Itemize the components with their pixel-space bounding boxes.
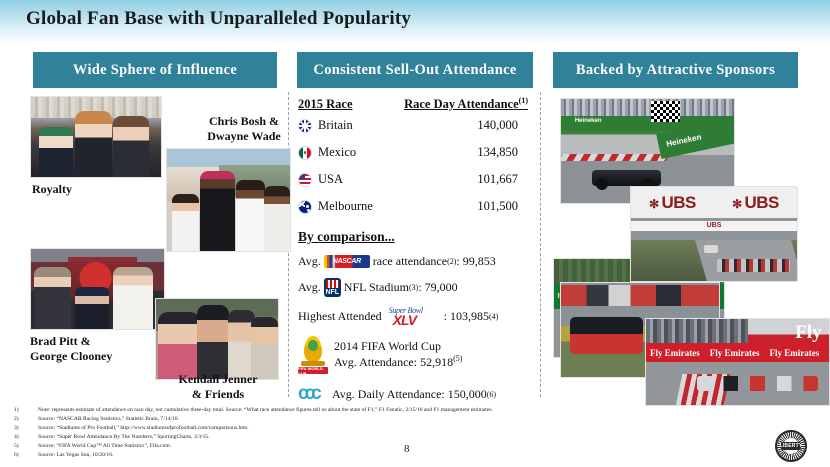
caption-bosh-line1: Chris Bosh & <box>196 114 292 129</box>
attendance-race-cell: USA <box>298 172 394 187</box>
comparison-nfl-prefix: Avg. <box>298 280 321 295</box>
footnote-text: Source: “Stadiums of Pro Football,” http… <box>38 424 714 433</box>
ubs-trackside-board: UBS UBS <box>631 187 797 218</box>
emirates-label: Fly Emirates <box>710 348 760 358</box>
caption-brad-pitt-george-clooney: Brad Pitt & George Clooney <box>30 334 150 364</box>
footnote-number: 3) <box>14 424 38 433</box>
photo-brad-pitt-george-clooney <box>30 248 165 330</box>
attendance-value: 140,000 <box>394 118 536 133</box>
footnotes: 1) Note: represents estimate of attendan… <box>14 406 714 460</box>
attendance-value: 101,667 <box>394 172 536 187</box>
ubs-label: UBS <box>732 193 779 213</box>
by-comparison-heading: By comparison... <box>298 229 536 245</box>
footnote-text: Source: “NASCAR Racing Statistics,” Stat… <box>38 415 714 424</box>
comparison-super-bowl-prefix: Highest Attended <box>298 309 382 324</box>
footnote-item: 1) Note: represents estimate of attendan… <box>14 406 714 415</box>
comparison-row-nfl: Avg. NFL Stadium(3): 79,000 <box>298 278 536 297</box>
comparison-super-bowl-footnote-ref: (4) <box>489 312 498 321</box>
attendance-col1-header: 2015 Race <box>298 97 394 112</box>
table-row: Melbourne 101,500 <box>298 193 536 220</box>
footnote-item: 5) Source: “FIFA World Cup™ All Time Sta… <box>14 442 714 451</box>
attendance-race-label: Mexico <box>318 145 356 160</box>
photo-sponsor-ubs: UBS UBS UBS <box>630 186 798 282</box>
comparison-row-fifa: 2014 FIFA World Cup Avg. Attendance: 52,… <box>298 334 536 374</box>
comparison-nascar-prefix: Avg. <box>298 254 321 269</box>
footnote-item: 4) Source: “Super Bowl Attendance By The… <box>14 433 714 442</box>
comparison-nascar-value: : 99,853 <box>456 254 495 269</box>
comparison-row-comic-con: Avg. Daily Attendance: 150,000(6) <box>298 384 536 404</box>
attendance-race-cell: Mexico <box>298 145 394 160</box>
comparison-super-bowl-value: : 103,985 <box>444 309 489 324</box>
footnote-number: 4) <box>14 433 38 442</box>
emirates-label: Fly Emirates <box>770 348 820 358</box>
nascar-logo-icon <box>324 255 370 268</box>
footnote-number: 1) <box>14 406 38 415</box>
attendance-table-header: 2015 Race Race Day Attendance(1) <box>298 96 536 112</box>
ubs-label: UBS <box>649 193 696 213</box>
attendance-race-cell: Melbourne <box>298 199 394 214</box>
attendance-value: 134,850 <box>394 145 536 160</box>
footnote-number: 2) <box>14 415 38 424</box>
liberty-logo-text: LIBERTY <box>780 443 803 449</box>
caption-brad-line2: George Clooney <box>30 349 150 364</box>
page-title: Global Fan Base with Unparalleled Popula… <box>26 8 411 30</box>
super-bowl-xlv-logo-icon: Super BowlXLV <box>385 306 441 326</box>
comparison-fifa-footnote-ref: (5) <box>453 354 462 363</box>
footnote-item: 2) Source: “NASCAR Racing Statistics,” S… <box>14 415 714 424</box>
comic-con-logo-icon <box>298 384 332 404</box>
ubs-sub-label: UBS <box>631 221 797 231</box>
footnote-text: Source: “Super Bowl Attendance By The Nu… <box>38 433 714 442</box>
column-header-sponsors: Backed by Attractive Sponsors <box>553 52 798 88</box>
attendance-panel: 2015 Race Race Day Attendance(1) Britain… <box>298 96 536 404</box>
slide-canvas: Global Fan Base with Unparalleled Popula… <box>0 0 830 467</box>
column-divider-right <box>540 92 541 397</box>
column-header-influence-label: Wide Sphere of Influence <box>73 62 237 79</box>
comparison-nfl-footnote-ref: (3) <box>409 283 418 292</box>
photo-sponsor-fly-emirates: Fly Fly Emirates Fly Emirates Fly Emirat… <box>645 318 830 406</box>
column-header-attendance-label: Consistent Sell-Out Attendance <box>313 62 516 79</box>
attendance-race-label: Melbourne <box>318 199 373 214</box>
caption-kendall-jenner-friends: Kendall Jenner & Friends <box>157 372 279 402</box>
comparison-nfl-text: NFL Stadium <box>344 280 409 295</box>
comparison-nascar-footnote-ref: (2) <box>447 257 456 266</box>
table-row: Britain 140,000 <box>298 112 536 139</box>
comparison-fifa-line2: Avg. Attendance: 52,918 <box>334 355 453 369</box>
table-row: Mexico 134,850 <box>298 139 536 166</box>
attendance-value: 101,500 <box>394 199 536 214</box>
column-header-sponsors-label: Backed by Attractive Sponsors <box>576 62 775 79</box>
footnote-number: 6) <box>14 451 38 460</box>
caption-brad-line1: Brad Pitt & <box>30 334 150 349</box>
photo-kendall-jenner-friends <box>155 298 279 380</box>
column-header-influence: Wide Sphere of Influence <box>33 52 277 88</box>
comparison-nfl-value: : 79,000 <box>418 280 457 295</box>
emirates-trackside-board: Fly Emirates Fly Emirates Fly Emirates <box>646 343 829 362</box>
footnote-text: Note: represents estimate of attendance … <box>38 406 714 415</box>
checkered-flag-icon <box>651 101 680 122</box>
emirates-label: Fly Emirates <box>650 348 700 358</box>
liberty-media-logo-icon: LIBERTY <box>775 430 807 462</box>
uk-flag-icon <box>298 119 312 133</box>
comparison-fifa-line1: 2014 FIFA World Cup <box>334 338 462 354</box>
mexico-flag-icon <box>298 146 312 160</box>
attendance-race-label: Britain <box>318 118 353 133</box>
australia-flag-icon <box>298 200 312 214</box>
photo-royalty <box>30 96 162 178</box>
footnote-number: 5) <box>14 442 38 451</box>
page-number: 8 <box>404 443 410 455</box>
usa-flag-icon <box>298 173 312 187</box>
footnote-item: 6) Source: Las Vegas Sun, 10/20/16. <box>14 451 714 460</box>
fifa-world-cup-logo-icon <box>298 334 328 374</box>
comparison-row-nascar: Avg. race attendance(2): 99,853 <box>298 254 536 269</box>
column-header-attendance: Consistent Sell-Out Attendance <box>297 52 533 88</box>
footnote-text: Source: Las Vegas Sun, 10/20/16. <box>38 451 714 460</box>
comparison-comic-con-text: Avg. Daily Attendance: 150,000 <box>332 387 487 402</box>
comparison-comic-con-footnote-ref: (6) <box>487 390 496 399</box>
attendance-col2-header-label: Race Day Attendance <box>404 97 519 111</box>
caption-chris-bosh-dwayne-wade: Chris Bosh & Dwayne Wade <box>196 114 292 144</box>
comparison-nascar-text: race attendance <box>373 254 447 269</box>
footnote-text: Source: “FIFA World Cup™ All Time Statis… <box>38 442 714 451</box>
caption-bosh-line2: Dwayne Wade <box>196 129 292 144</box>
caption-kendall-line2: & Friends <box>157 387 279 402</box>
attendance-race-label: USA <box>318 172 343 187</box>
caption-kendall-line1: Kendall Jenner <box>157 372 279 387</box>
photo-chris-bosh-dwayne-wade <box>166 148 291 252</box>
comparison-row-super-bowl: Highest Attended Super BowlXLV : 103,985… <box>298 306 536 326</box>
emirates-big-label: Fly <box>795 322 821 344</box>
caption-royalty: Royalty <box>32 182 72 197</box>
nfl-logo-icon <box>324 278 341 297</box>
table-row: USA 101,667 <box>298 166 536 193</box>
footnote-item: 3) Source: “Stadiums of Pro Football,” h… <box>14 424 714 433</box>
attendance-col2-header: Race Day Attendance(1) <box>394 96 536 112</box>
comparison-fifa-line2-wrap: Avg. Attendance: 52,918(5) <box>334 354 462 370</box>
comparison-fifa-lines: 2014 FIFA World Cup Avg. Attendance: 52,… <box>334 338 462 370</box>
attendance-col2-header-footnote-ref: (1) <box>519 96 528 105</box>
attendance-race-cell: Britain <box>298 118 394 133</box>
